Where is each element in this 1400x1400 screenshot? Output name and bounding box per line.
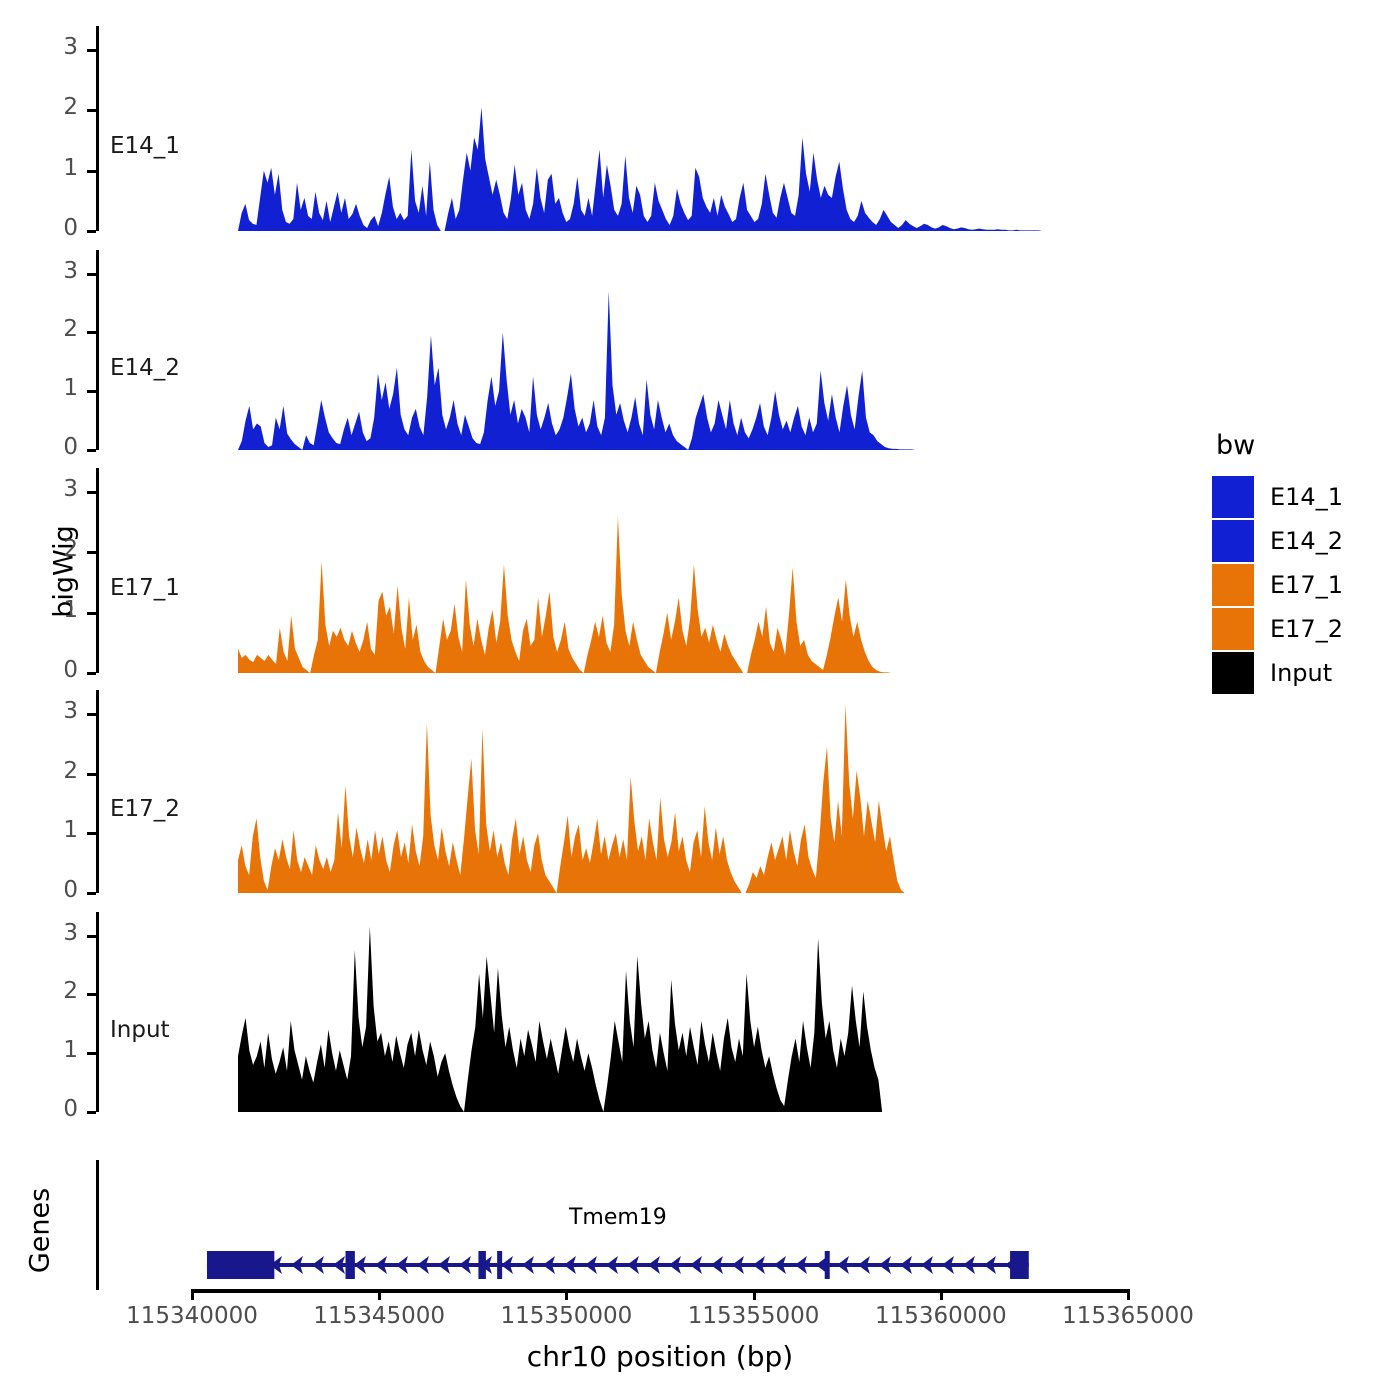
- y-tick-label: 2: [18, 536, 78, 562]
- y-tick-mark: [87, 993, 96, 996]
- gene-model-tmem19: [0, 1175, 1400, 1315]
- track-panel-e14_1: 0123E14_1: [96, 26, 1160, 231]
- y-tick-label: 3: [18, 476, 78, 502]
- y-tick-label: 2: [18, 758, 78, 784]
- y-tick-mark: [87, 331, 96, 334]
- y-tick-label: 0: [18, 215, 78, 241]
- genome-browser-figure: bigWig Genes chr10 position (bp) 0123E14…: [0, 0, 1400, 1400]
- legend-title: bw: [1216, 430, 1392, 461]
- coverage-area-e17_1: [96, 468, 1160, 673]
- y-tick-label: 3: [18, 698, 78, 724]
- y-tick-mark: [87, 273, 96, 276]
- y-tick-mark: [87, 1111, 96, 1114]
- track-panel-e14_2: 0123E14_2: [96, 250, 1160, 450]
- y-tick-label: 0: [18, 1096, 78, 1122]
- track-panel-e17_2: 0123E17_2: [96, 690, 1160, 893]
- y-tick-mark: [87, 612, 96, 615]
- gene-exon-box: [825, 1251, 830, 1279]
- y-tick-label: 2: [18, 978, 78, 1004]
- legend-item-e14_2[interactable]: E14_2: [1212, 519, 1392, 563]
- legend-swatch-input: [1212, 652, 1254, 694]
- y-tick-label: 1: [18, 597, 78, 623]
- y-tick-mark: [87, 713, 96, 716]
- y-tick-mark: [87, 49, 96, 52]
- y-tick-label: 1: [18, 1037, 78, 1063]
- y-tick-mark: [87, 491, 96, 494]
- y-tick-label: 1: [18, 155, 78, 181]
- gene-name-label: Tmem19: [518, 1205, 718, 1230]
- gene-exon-box: [1010, 1251, 1029, 1279]
- y-tick-mark: [87, 230, 96, 233]
- track-panel-e17_1: 0123E17_1: [96, 468, 1160, 673]
- y-tick-mark: [87, 170, 96, 173]
- legend-items: E14_1E14_2E17_1E17_2Input: [1212, 475, 1392, 695]
- x-axis-title: chr10 position (bp): [190, 1340, 1130, 1373]
- coverage-area-e14_1: [96, 26, 1160, 231]
- coverage-area-e14_2: [96, 250, 1160, 450]
- legend-label: E14_2: [1270, 527, 1343, 555]
- y-tick-mark: [87, 390, 96, 393]
- coverage-area-input: [96, 912, 1160, 1112]
- legend-label: E17_1: [1270, 571, 1343, 599]
- y-tick-label: 2: [18, 94, 78, 120]
- y-tick-label: 2: [18, 316, 78, 342]
- legend-item-e14_1[interactable]: E14_1: [1212, 475, 1392, 519]
- legend: bw E14_1E14_2E17_1E17_2Input: [1212, 430, 1392, 695]
- y-tick-label: 1: [18, 817, 78, 843]
- y-tick-mark: [87, 892, 96, 895]
- y-tick-mark: [87, 109, 96, 112]
- track-panel-input: 0123Input: [96, 912, 1160, 1112]
- gene-exon-box: [346, 1251, 355, 1279]
- y-tick-mark: [87, 832, 96, 835]
- y-tick-label: 3: [18, 258, 78, 284]
- legend-swatch-e14_2: [1212, 520, 1254, 562]
- gene-exon-box: [478, 1251, 485, 1279]
- gene-exon-box: [497, 1251, 502, 1279]
- y-tick-mark: [87, 1052, 96, 1055]
- legend-swatch-e14_1: [1212, 476, 1254, 518]
- legend-swatch-e17_1: [1212, 564, 1254, 606]
- legend-item-e17_1[interactable]: E17_1: [1212, 563, 1392, 607]
- y-tick-label: 3: [18, 34, 78, 60]
- y-tick-label: 0: [18, 657, 78, 683]
- legend-swatch-e17_2: [1212, 608, 1254, 650]
- y-tick-mark: [87, 773, 96, 776]
- gene-exon-box: [207, 1251, 274, 1279]
- legend-item-input[interactable]: Input: [1212, 651, 1392, 695]
- legend-label: E17_2: [1270, 615, 1343, 643]
- coverage-area-e17_2: [96, 690, 1160, 893]
- legend-item-e17_2[interactable]: E17_2: [1212, 607, 1392, 651]
- y-tick-mark: [87, 551, 96, 554]
- legend-label: E14_1: [1270, 483, 1343, 511]
- y-tick-mark: [87, 672, 96, 675]
- y-tick-label: 3: [18, 920, 78, 946]
- y-tick-label: 1: [18, 375, 78, 401]
- y-tick-mark: [87, 449, 96, 452]
- legend-label: Input: [1270, 659, 1332, 687]
- y-tick-label: 0: [18, 434, 78, 460]
- y-tick-mark: [87, 935, 96, 938]
- y-tick-label: 0: [18, 877, 78, 903]
